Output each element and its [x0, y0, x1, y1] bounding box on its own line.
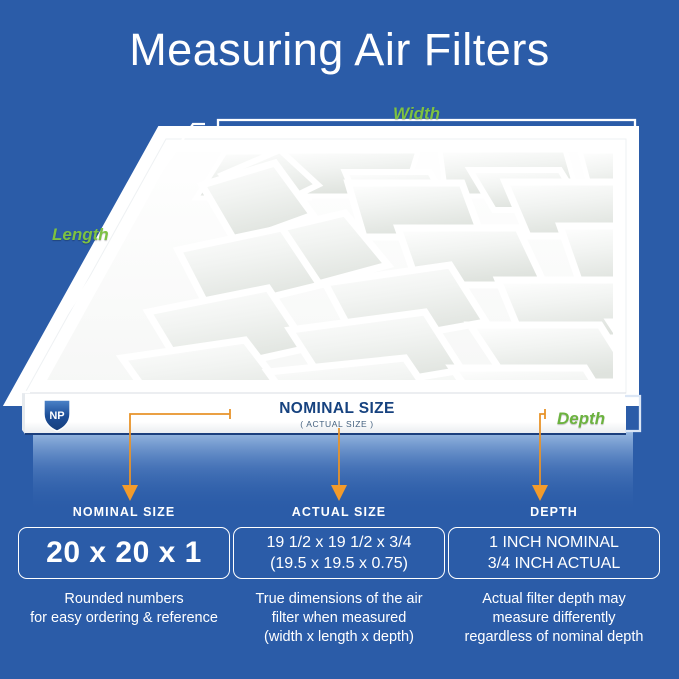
svg-text:NP: NP	[49, 410, 64, 422]
column-actual-size: ACTUAL SIZE 19 1/2 x 19 1/2 x 3/4 (19.5 …	[233, 505, 445, 647]
value-line: 3/4 INCH ACTUAL	[488, 553, 620, 574]
column-value-lines: 20 x 20 x 1	[46, 536, 202, 570]
note-line: filter when measured	[233, 609, 445, 628]
column-heading: DEPTH	[448, 505, 660, 519]
page-title: Measuring Air Filters	[0, 20, 679, 80]
column-note: Rounded numbers for easy ordering & refe…	[18, 590, 230, 628]
nominal-size-subcaption: ( ACTUAL SIZE )	[232, 419, 442, 429]
nominal-size-caption: NOMINAL SIZE	[232, 400, 442, 418]
column-value-lines: 1 INCH NOMINAL 3/4 INCH ACTUAL	[488, 532, 620, 574]
note-line: Actual filter depth may	[448, 590, 660, 609]
column-value-lines: 19 1/2 x 19 1/2 x 3/4 (19.5 x 19.5 x 0.7…	[267, 532, 412, 574]
note-line: Rounded numbers	[18, 590, 230, 609]
note-line: regardless of nominal depth	[448, 628, 660, 647]
column-value-box: 1 INCH NOMINAL 3/4 INCH ACTUAL	[448, 527, 660, 579]
filter-body	[22, 139, 679, 434]
value-line: 19 1/2 x 19 1/2 x 3/4	[267, 532, 412, 553]
label-depth: Depth	[557, 409, 605, 429]
note-line: measure differently	[448, 609, 660, 628]
value-line: (19.5 x 19.5 x 0.75)	[267, 553, 412, 574]
note-line: (width x length x depth)	[233, 628, 445, 647]
infographic-canvas: NP Measuring Air Filters Width Length De…	[0, 0, 679, 679]
note-line: True dimensions of the air	[233, 590, 445, 609]
column-heading: NOMINAL SIZE	[18, 505, 230, 519]
column-note: True dimensions of the air filter when m…	[233, 590, 445, 647]
column-depth: DEPTH 1 INCH NOMINAL 3/4 INCH ACTUAL Act…	[448, 505, 660, 647]
label-length: Length	[52, 225, 109, 245]
column-note: Actual filter depth may measure differen…	[448, 590, 660, 647]
note-line: for easy ordering & reference	[18, 609, 230, 628]
filter-reflection	[33, 432, 633, 512]
label-width: Width	[393, 104, 440, 124]
column-value-box: 20 x 20 x 1	[18, 527, 230, 579]
column-heading: ACTUAL SIZE	[233, 505, 445, 519]
value-line: 1 INCH NOMINAL	[488, 532, 620, 553]
value-line: 20 x 20 x 1	[46, 536, 202, 570]
column-value-box: 19 1/2 x 19 1/2 x 3/4 (19.5 x 19.5 x 0.7…	[233, 527, 445, 579]
column-nominal-size: NOMINAL SIZE 20 x 20 x 1 Rounded numbers…	[18, 505, 230, 628]
